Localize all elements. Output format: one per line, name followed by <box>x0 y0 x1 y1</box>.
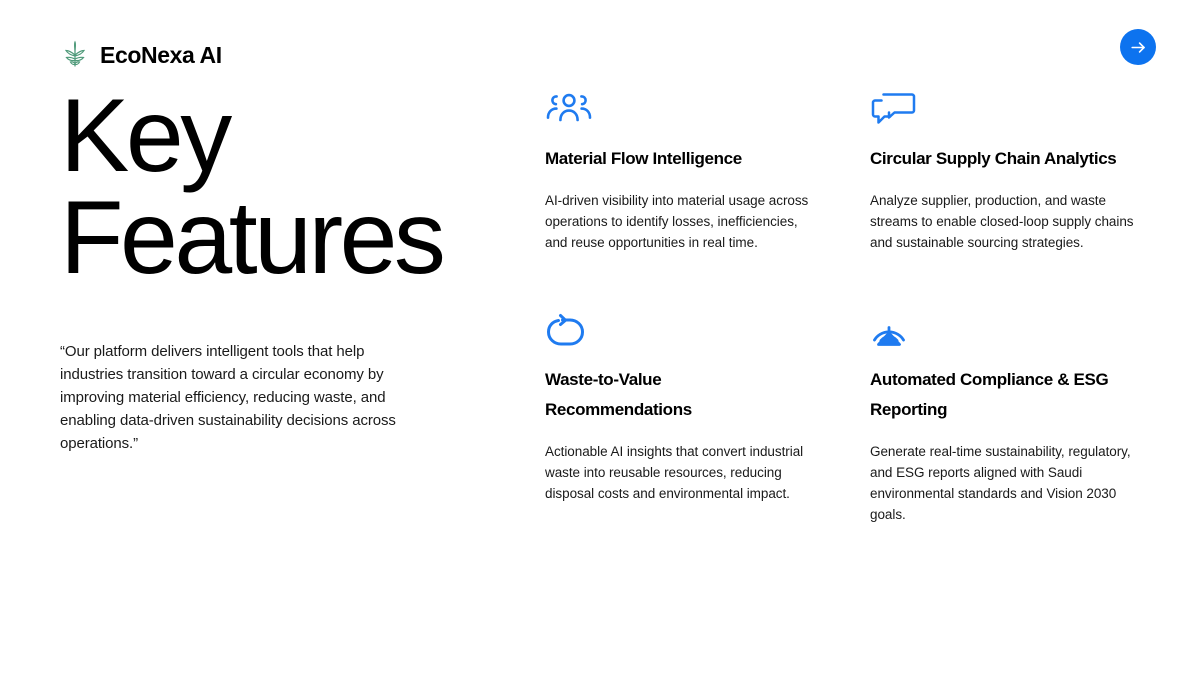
arrow-right-icon <box>1129 38 1148 57</box>
brand-lockup: EcoNexa AI <box>60 40 222 70</box>
feature-description: Generate real-time sustainability, regul… <box>870 441 1135 525</box>
feature-title: Automated Compliance & ESG Reporting <box>870 365 1135 425</box>
feature-card: Material Flow Intelligence AI-driven vis… <box>545 92 810 253</box>
feature-title: Material Flow Intelligence <box>545 144 810 174</box>
feature-description: Analyze supplier, production, and waste … <box>870 190 1135 253</box>
leaf-icon <box>60 40 90 70</box>
feature-description: Actionable AI insights that convert indu… <box>545 441 810 504</box>
page-title: Key Features <box>60 86 480 290</box>
feature-title: Circular Supply Chain Analytics <box>870 144 1135 174</box>
refresh-loop-icon <box>545 313 810 347</box>
slide-root: EcoNexa AI Key Features “Our platform de… <box>0 0 1200 675</box>
feature-description: AI-driven visibility into material usage… <box>545 190 810 253</box>
next-button[interactable] <box>1120 29 1156 65</box>
feature-title: Waste-to-Value Recommendations <box>545 365 810 425</box>
brand-name: EcoNexa AI <box>100 44 222 67</box>
feature-card: Circular Supply Chain Analytics Analyze … <box>870 92 1135 253</box>
hero-quote: “Our platform delivers intelligent tools… <box>60 340 425 455</box>
feature-card: Waste-to-Value Recommendations Actionabl… <box>545 313 810 525</box>
hero-column: Key Features “Our platform delivers inte… <box>60 86 480 455</box>
chat-bubbles-icon <box>870 92 1135 126</box>
feature-card: Automated Compliance & ESG Reporting Gen… <box>870 313 1135 525</box>
feature-grid: Material Flow Intelligence AI-driven vis… <box>545 92 1145 525</box>
airplay-broadcast-icon <box>870 313 1135 347</box>
users-group-icon <box>545 92 810 126</box>
